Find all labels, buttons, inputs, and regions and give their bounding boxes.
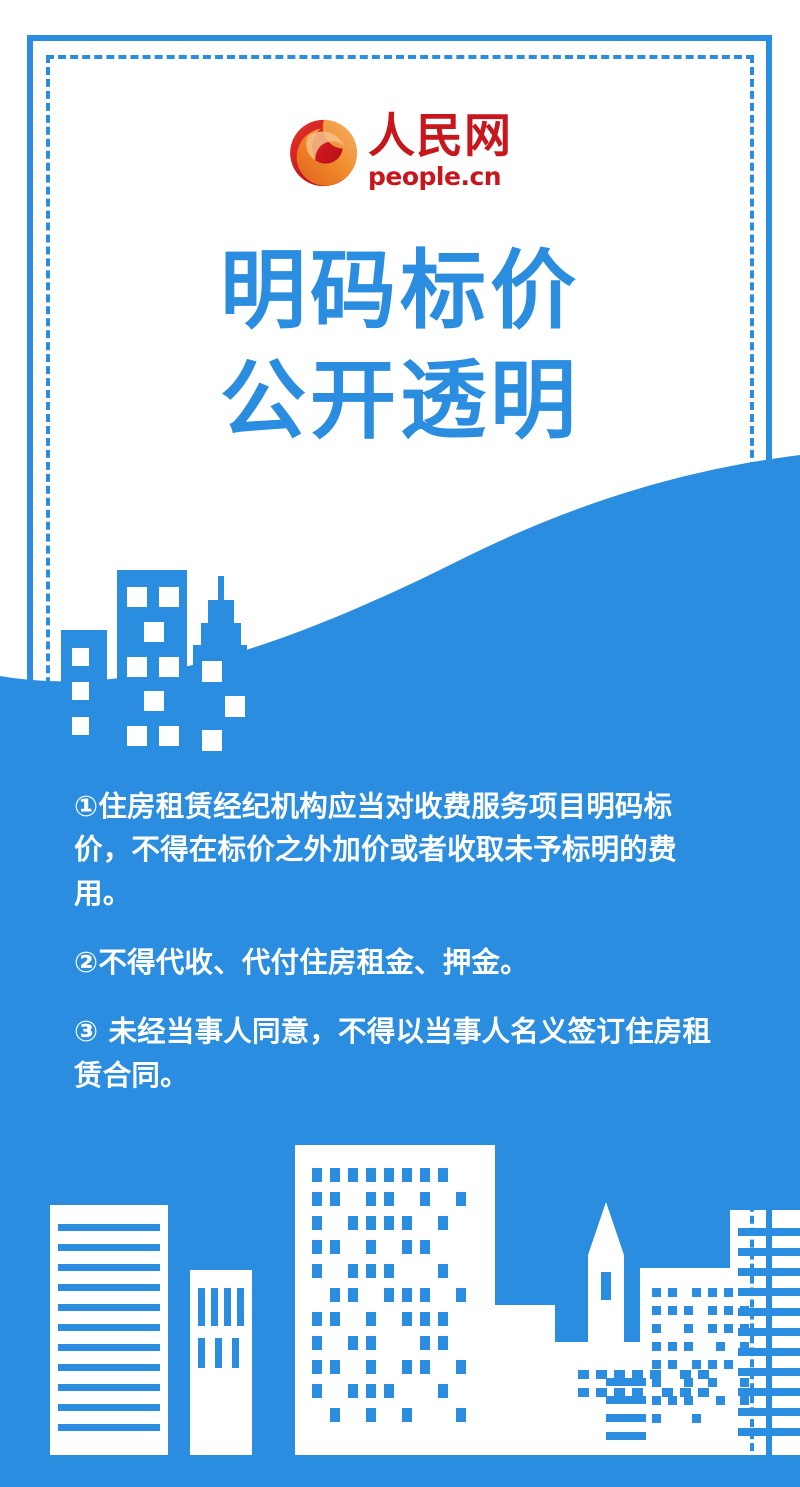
people-daily-swirl-logo-icon <box>288 117 360 189</box>
brand-name-latin: people.cn <box>368 163 501 192</box>
poster-canvas: 人民网 people.cn 明码标价 公开透明 ①住房租赁经纪机构应当对收费服务… <box>0 0 800 1487</box>
brand-name-cn: 人民网 <box>368 114 512 161</box>
page-title-line-1: 明码标价 <box>0 236 800 346</box>
rule-item-3: ③ 未经当事人同意，不得以当事人名义签订住房租赁合同。 <box>74 1010 722 1097</box>
page-title: 明码标价 公开透明 <box>0 236 800 456</box>
rules-list: ①住房租赁经纪机构应当对收费服务项目明码标价，不得在标价之外加价或者收取未予标明… <box>74 785 722 1097</box>
rule-item-2: ②不得代收、代付住房租金、押金。 <box>74 941 722 984</box>
page-title-line-2: 公开透明 <box>0 346 800 456</box>
city-skyline-icon <box>55 530 315 775</box>
brand-logo: 人民网 people.cn <box>0 108 800 198</box>
city-skyline-icon <box>0 1120 800 1460</box>
rule-item-1: ①住房租赁经纪机构应当对收费服务项目明码标价，不得在标价之外加价或者收取未予标明… <box>74 785 722 915</box>
